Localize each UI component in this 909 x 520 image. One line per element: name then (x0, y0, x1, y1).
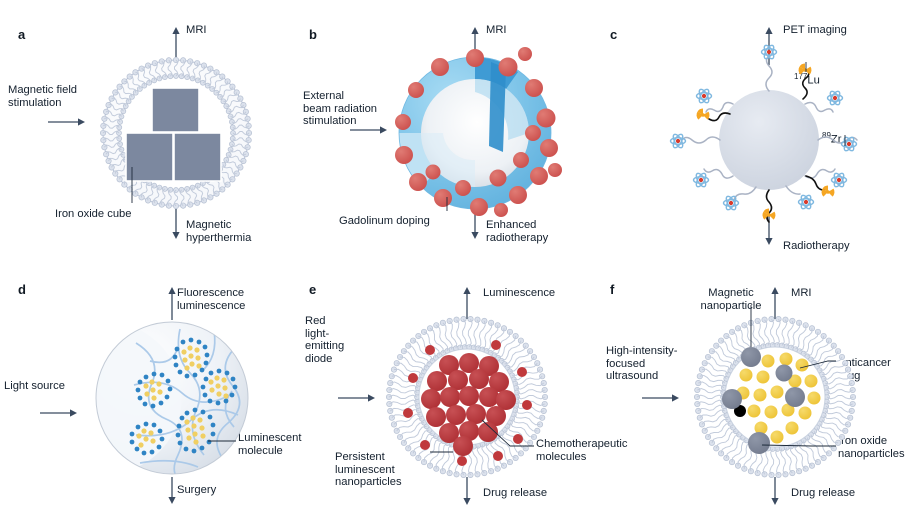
iron-oxide-cube (126, 133, 173, 181)
lipid-head (109, 165, 114, 170)
lipid-head (724, 333, 729, 338)
lipid-head (718, 338, 723, 343)
atom-icon (724, 195, 739, 211)
lipid-head (157, 76, 162, 81)
lipid-head (454, 317, 459, 322)
lipid-head (139, 66, 144, 71)
lipid-head (776, 472, 781, 477)
lipid-head (241, 158, 246, 163)
figure-canvas: a Magnetic field stimulation MRI Magneti… (0, 0, 909, 520)
lipid-head (475, 472, 480, 477)
lipid-head (201, 63, 206, 68)
lipid-head (190, 185, 195, 190)
lipid-head (762, 317, 767, 322)
atom-icon (697, 88, 712, 104)
lipid-head (769, 316, 774, 321)
lipid-head (461, 316, 466, 321)
lipid-head (454, 472, 459, 477)
atom-icon (832, 172, 847, 188)
radioactive-icon (822, 186, 835, 197)
lipid-head (246, 137, 251, 142)
panel-c-graphic (606, 0, 909, 265)
lipid-head (123, 104, 128, 109)
panel-e: e Red light- emitting diode Luminescence… (303, 265, 606, 520)
atom-icon (828, 90, 843, 106)
panel-a-graphic (0, 0, 303, 265)
atom-icon (799, 194, 814, 210)
lipid-head (769, 472, 774, 477)
lipid-head (166, 203, 171, 208)
lipid-head (783, 472, 788, 477)
panel-e-graphic (303, 265, 606, 520)
lipid-head (230, 125, 235, 130)
lipid-head (826, 451, 831, 456)
lipid-head (518, 451, 523, 456)
panel-f-graphic (606, 265, 909, 520)
panel-b: b External beam radiation stimulation MR… (303, 0, 606, 265)
atom-icon (671, 133, 686, 149)
lipid-head (117, 136, 122, 141)
lipid-head (224, 157, 229, 162)
lipid-head (513, 455, 518, 460)
lipid-head (238, 96, 243, 101)
lipid-head (126, 99, 131, 104)
lipid-head (101, 123, 106, 128)
lipid-head (179, 187, 184, 192)
lipid-head (461, 472, 466, 477)
atom-icon (694, 172, 709, 188)
lipid-head (410, 338, 415, 343)
panel-a: a Magnetic field stimulation MRI Magneti… (0, 0, 303, 265)
lipid-head (468, 316, 473, 321)
lipid-head (200, 80, 205, 85)
lipid-head (776, 316, 781, 321)
lipid-head (783, 317, 788, 322)
lipid-head (821, 455, 826, 460)
iron-oxide-cube (174, 133, 221, 181)
panel-f: f High-intensity- focused ultrasound MRI… (606, 265, 909, 520)
lipid-head (468, 472, 473, 477)
lipid-head (205, 83, 210, 88)
panel-b-graphic (303, 0, 606, 265)
radioactive-icon (799, 64, 812, 75)
lipid-head (228, 114, 233, 119)
iron-oxide-cube (152, 88, 199, 132)
lipid-head (119, 147, 124, 152)
lipid-head (416, 333, 421, 338)
lipid-head (180, 58, 185, 63)
lipid-head (168, 74, 173, 79)
panel-c: c PET imaging Radiotherapy 177Lu 89Zr (606, 0, 909, 265)
lipid-head (475, 317, 480, 322)
atom-icon (762, 44, 777, 60)
lipid-head (106, 102, 111, 107)
lipid-head (145, 198, 150, 203)
panel-d-graphic (0, 265, 303, 520)
panel-d: d Light source Fluorescence luminescence… (0, 265, 303, 520)
lipid-head (762, 472, 767, 477)
lipid-head (208, 195, 213, 200)
